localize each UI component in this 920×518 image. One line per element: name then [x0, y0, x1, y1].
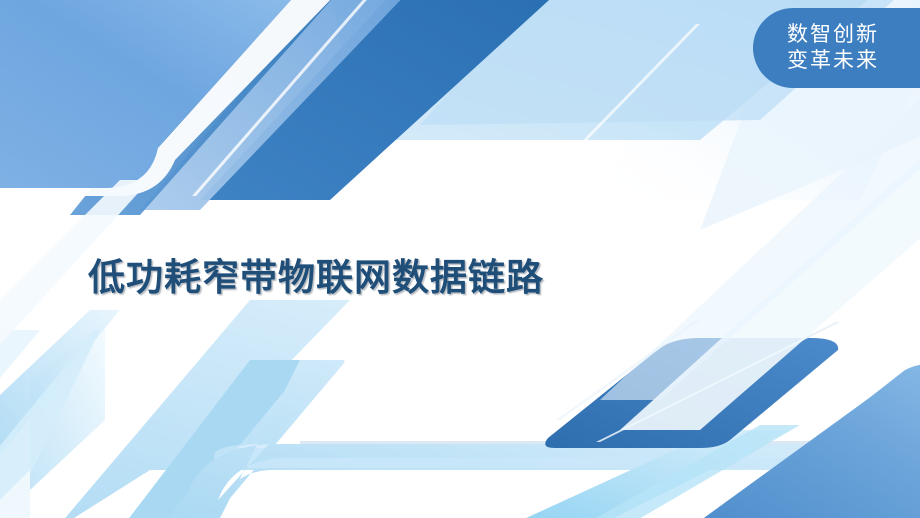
deco-bottom-light-band-1 — [0, 310, 120, 455]
deco-top-white-notch — [0, 0, 340, 196]
deco-bottom-dark-parallelogram — [545, 338, 838, 448]
deco-top-hairline-1 — [192, 0, 372, 196]
deco-top-stripe-dark-2 — [70, 0, 340, 215]
deco-mid-pale-diagonal — [620, 150, 920, 430]
deco-top-main-shape-body — [0, 0, 290, 182]
deco-bottom-cyan-band-2 — [500, 430, 790, 518]
deco-bottom-left-notch — [0, 470, 30, 518]
badge-line-1: 数智创新 — [787, 22, 879, 48]
deco-bottom-light-band-2 — [0, 330, 100, 512]
deco-top-main-shape — [0, 0, 300, 188]
deco-bottom-sliver-1 — [0, 330, 40, 378]
deco-top-stripe-dark — [200, 0, 560, 200]
slide-canvas: 数智创新 变革未来 低功耗窄带物联网数据链路 — [0, 0, 920, 518]
page-title: 低功耗窄带物联网数据链路 — [88, 253, 544, 303]
deco-bottom-big-triangle — [690, 370, 920, 518]
deco-bottom-big-triangle-body — [700, 364, 920, 518]
deco-bottom-hairline-2 — [556, 320, 700, 420]
deco-bottom-hairline-1 — [596, 322, 840, 442]
deco-bottom-arm-band — [120, 362, 920, 518]
deco-top-stripe-light — [140, 0, 410, 210]
deco-bottom-arm-curve — [160, 360, 920, 518]
deco-mid-pale-diagonal-2 — [600, 90, 920, 400]
deco-bottom-arm-fill — [120, 360, 310, 518]
deco-bottom-divider — [300, 441, 920, 444]
deco-bottom-arm-horizontal — [214, 444, 920, 468]
badge-line-2: 变革未来 — [787, 48, 879, 74]
deco-bottom-cyan-band-3 — [575, 425, 800, 518]
status-badge: 数智创新 变革未来 — [753, 8, 920, 88]
deco-bottom-pale-band-1 — [30, 320, 105, 490]
deco-bottom-arm-shape — [55, 300, 920, 518]
deco-top-hairline-2 — [556, 24, 700, 168]
